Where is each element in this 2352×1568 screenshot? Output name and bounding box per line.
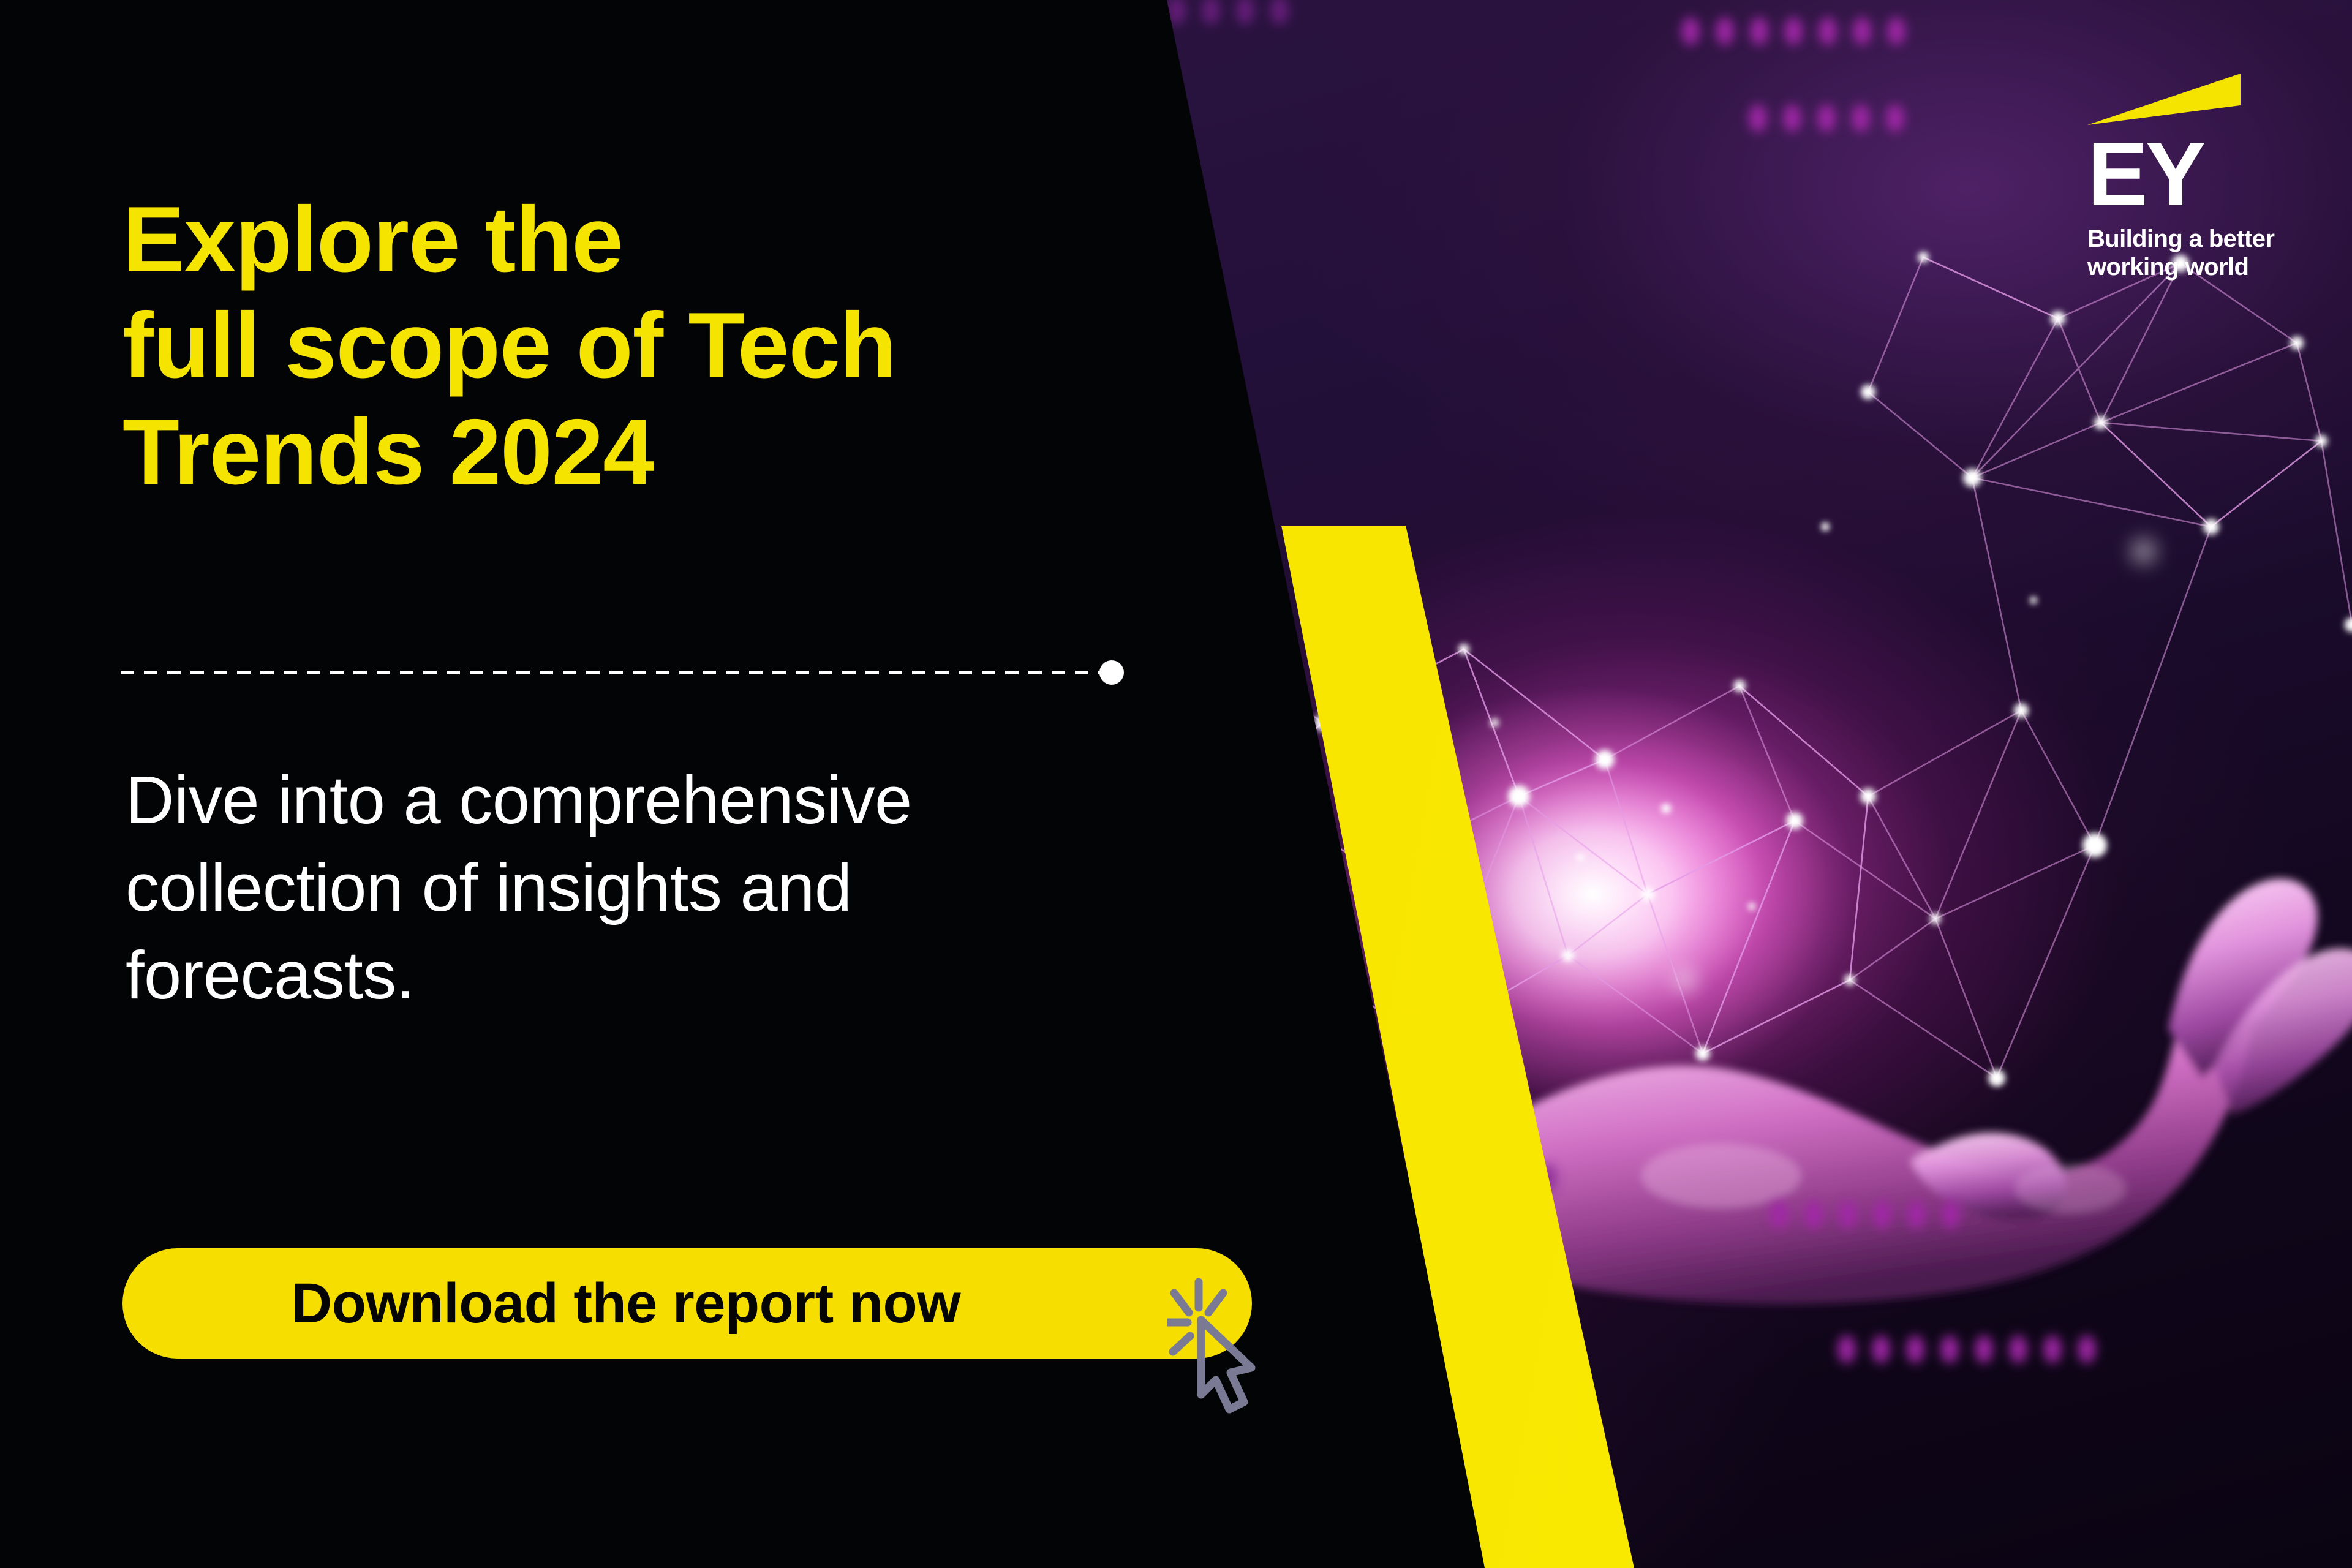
decorative-dot-row-top [1681, 17, 1905, 45]
decorative-dot-row-bottom [1838, 1335, 2096, 1363]
ey-logo: EY Building a better working world [2087, 73, 2283, 282]
ey-beam-icon [2087, 73, 2241, 125]
divider-dashes [121, 671, 1113, 674]
banner-content: Explore the full scope of Tech Trends 20… [0, 0, 1164, 1568]
subcopy-text: Dive into a comprehensive collection of … [126, 756, 1081, 1019]
page-title: Explore the full scope of Tech Trends 20… [123, 187, 896, 505]
decorative-dot-row-low [1470, 1164, 1557, 1192]
download-report-button[interactable]: Download the report now [123, 1248, 1252, 1359]
divider-dot-icon [1099, 660, 1124, 685]
ey-tagline: Building a better working world [2087, 225, 2283, 281]
dashed-divider-with-dot [121, 663, 1101, 681]
decorative-dot-row-right [1749, 104, 1904, 132]
cta-area: Download the report now [123, 1248, 1286, 1401]
decorative-dot-row-mid [1770, 1200, 1960, 1229]
ey-tech-trends-banner: Explore the full scope of Tech Trends 20… [0, 0, 2352, 1568]
ey-wordmark: EY [2087, 138, 2283, 211]
